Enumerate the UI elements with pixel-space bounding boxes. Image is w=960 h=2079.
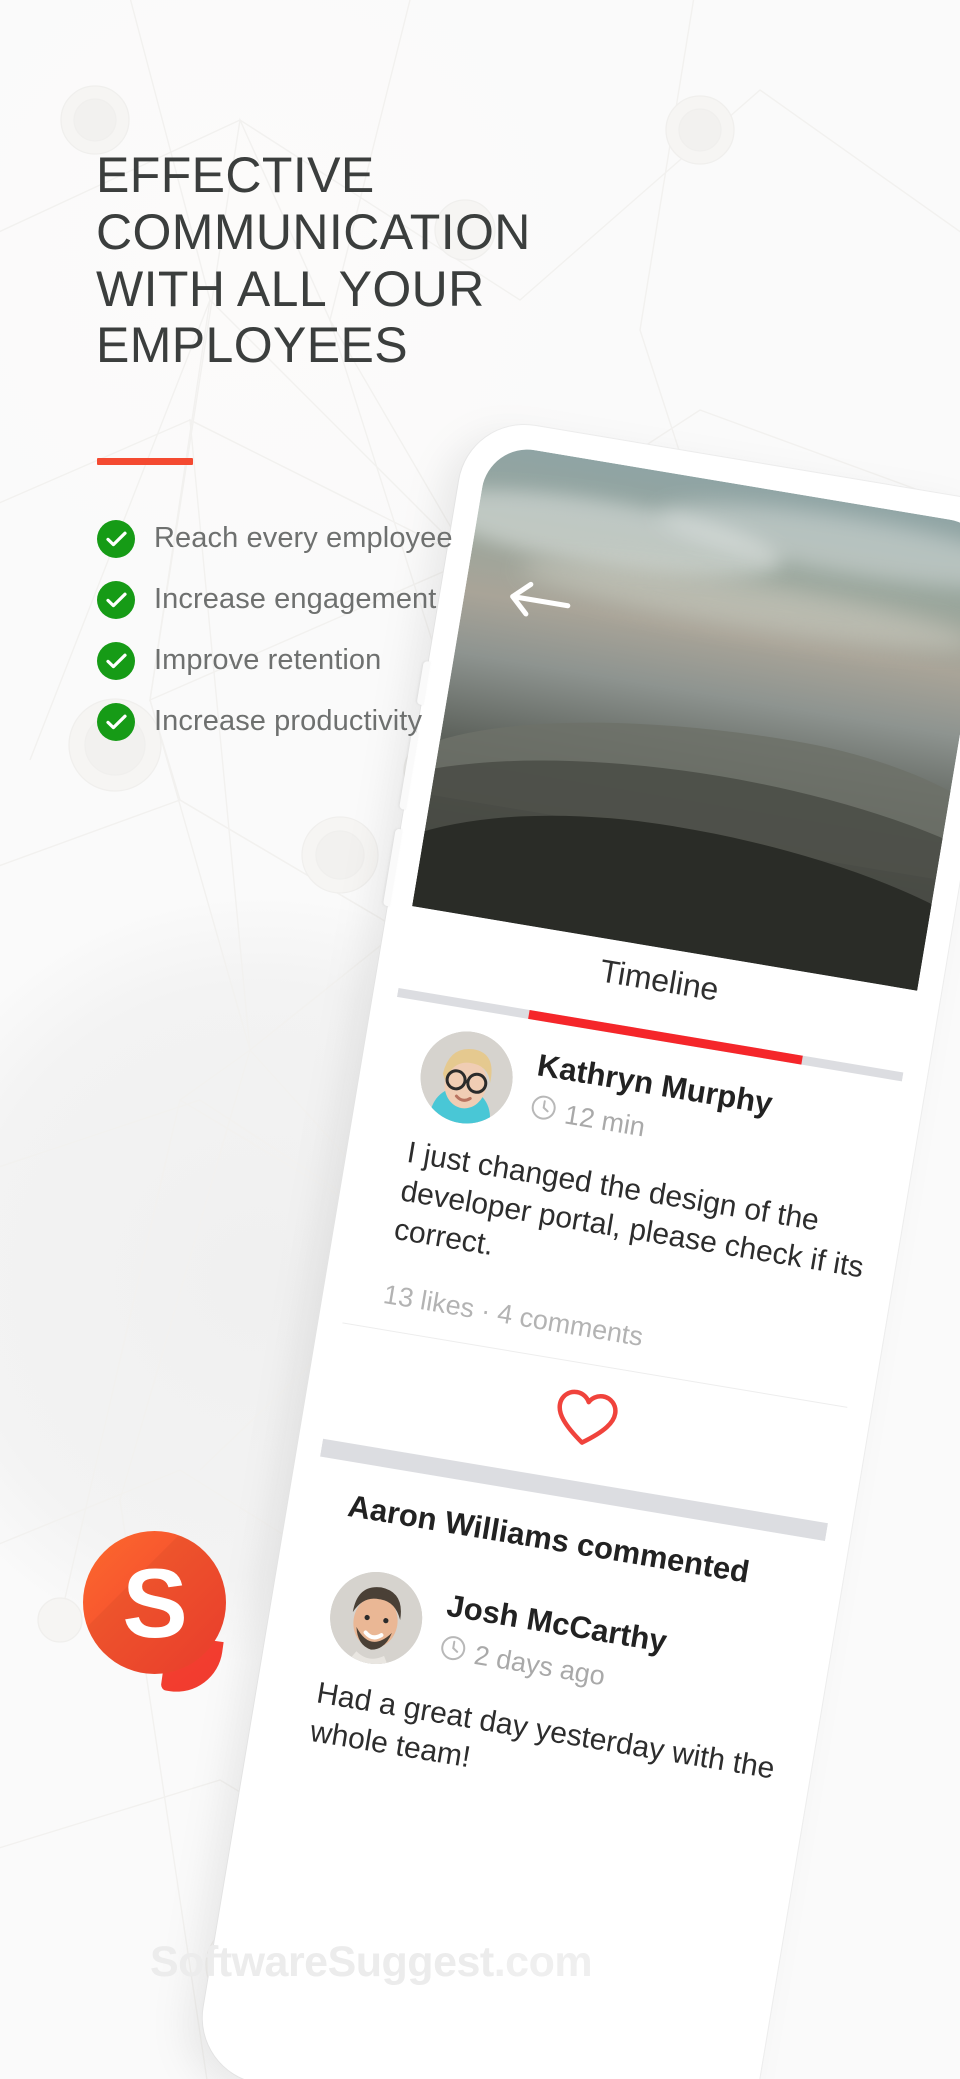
post-body: Had a great day yesterday with the whole… <box>307 1674 783 1829</box>
list-item: Increase engagement <box>97 569 453 630</box>
check-circle-icon <box>97 520 135 558</box>
list-item: Improve retention <box>97 630 453 691</box>
post-engagement-meta: 13 likes · 4 comments <box>381 1279 645 1353</box>
page-title: EFFECTIVE COMMUNICATION WITH ALL YOUR EM… <box>96 147 656 374</box>
post-time-text: 12 min <box>562 1099 647 1143</box>
post-time-text: 2 days ago <box>472 1640 607 1692</box>
watermark: SoftwareSuggest.com <box>150 1938 592 1987</box>
headline-line-1: EFFECTIVE <box>96 147 656 204</box>
headline-line-3: WITH ALL YOUR <box>96 261 656 318</box>
phone-volume-down-button[interactable] <box>383 828 403 906</box>
benefits-list: Reach every employee Increase engagement… <box>97 508 453 752</box>
speech-bubble-logo: S <box>83 1531 226 1674</box>
list-item: Increase productivity <box>97 691 453 752</box>
accent-divider <box>97 458 193 465</box>
avatar-image <box>323 1565 429 1671</box>
check-circle-icon <box>97 642 135 680</box>
logo-letter: S <box>83 1531 226 1674</box>
benefit-label: Reach every employee <box>154 522 453 555</box>
avatar[interactable] <box>323 1565 429 1671</box>
benefit-label: Increase engagement <box>154 583 436 616</box>
watermark-brand: SoftwareSuggest <box>150 1938 494 1986</box>
back-arrow-icon[interactable] <box>503 576 576 631</box>
avatar-image <box>414 1025 520 1131</box>
marketing-screenshot: EFFECTIVE COMMUNICATION WITH ALL YOUR EM… <box>0 0 960 2079</box>
headline-line-4: EMPLOYEES <box>96 317 656 374</box>
avatar[interactable] <box>414 1025 520 1131</box>
post-timestamp: 12 min <box>528 1093 648 1145</box>
headline-line-2: COMMUNICATION <box>96 204 656 261</box>
cover-photo <box>412 443 960 991</box>
list-item: Reach every employee <box>97 508 453 569</box>
benefit-label: Improve retention <box>154 644 381 677</box>
benefit-label: Increase productivity <box>154 705 422 738</box>
check-circle-icon <box>97 703 135 741</box>
clock-icon <box>528 1093 559 1130</box>
watermark-suffix: .com <box>494 1938 592 1986</box>
clock-icon <box>437 1633 468 1670</box>
heart-outline-icon <box>549 1385 624 1453</box>
check-circle-icon <box>97 581 135 619</box>
